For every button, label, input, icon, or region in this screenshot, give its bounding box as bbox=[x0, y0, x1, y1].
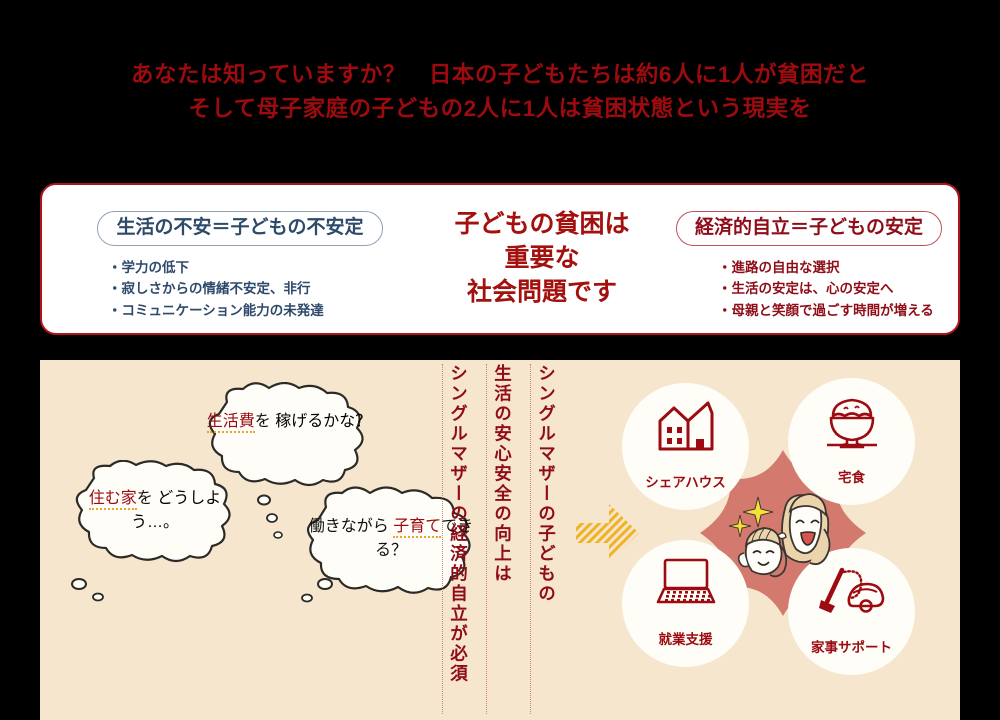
bubble-tail-dots-childcare bbox=[285, 576, 345, 616]
card-column-center: 子どもの貧困は 重要な 社会問題です bbox=[427, 185, 657, 337]
bubble-line-1: 働きながら bbox=[309, 518, 389, 535]
bubble-line-1: 住む家を bbox=[89, 490, 153, 510]
service-circles-cluster: シェアハウス 宅食 bbox=[600, 370, 960, 700]
list-item: ・母親と笑顔で過ごす時間が増える bbox=[718, 300, 954, 322]
card-column-right: 経済的自立＝子どもの安定 ・進路の自由な選択 ・生活の安定は、心の安定へ ・母親… bbox=[664, 185, 954, 337]
bubble-highlight: 住む家 bbox=[89, 490, 137, 510]
center-message-line-2: 重要な bbox=[427, 241, 657, 275]
infographic-canvas: あなたは知っていますか？ 日本の子どもたちは約6人に1人が貧困だと そして母子家… bbox=[0, 0, 1000, 720]
bubble-tail: を bbox=[137, 490, 153, 507]
page-headline: あなたは知っていますか？ 日本の子どもたちは約6人に1人が貧困だと そして母子家… bbox=[0, 58, 1000, 126]
bubble-highlight: 生活費 bbox=[207, 413, 255, 433]
speech-bubble-housing: 住む家を どうしよう…。 bbox=[70, 460, 240, 568]
bow-icon bbox=[778, 533, 786, 539]
list-item: ・学力の低下 bbox=[108, 257, 420, 279]
rice-bowl-icon bbox=[788, 394, 915, 455]
bubble-text-housing: 住む家を どうしよう…。 bbox=[70, 460, 240, 532]
list-item: ・コミュニケーション能力の未発達 bbox=[108, 300, 420, 322]
service-label: 就業支援 bbox=[622, 628, 749, 648]
problem-statement-card: 生活の不安＝子どもの不安定 ・学力の低下 ・寂しさからの情緒不安定、非行 ・コミ… bbox=[40, 183, 960, 335]
mother-face bbox=[790, 502, 822, 553]
bullet-list-left: ・学力の低下 ・寂しさからの情緒不安定、非行 ・コミュニケーション能力の未発達 bbox=[60, 257, 420, 322]
vertical-text-column-1: シングルマザーの子どもの bbox=[530, 364, 555, 714]
bubble-line-2: 稼げるかな？ bbox=[275, 413, 371, 430]
service-label: 家事サポート bbox=[788, 636, 915, 656]
bubble-tail-dots-housing bbox=[65, 572, 125, 612]
bubble-tail: を bbox=[255, 413, 271, 430]
pill-wrap-right: 経済的自立＝子どもの安定 bbox=[664, 185, 954, 246]
center-message-line-1: 子どもの貧困は bbox=[427, 207, 657, 241]
vertical-text-column-2: 生活の安心安全の向上は bbox=[486, 364, 511, 714]
bubble-text-living-cost: 生活費を 稼げるかな？ bbox=[205, 382, 373, 431]
list-item: ・寂しさからの情緒不安定、非行 bbox=[108, 278, 420, 300]
badge-life-anxiety: 生活の不安＝子どもの不安定 bbox=[97, 211, 382, 246]
card-column-left: 生活の不安＝子どもの不安定 ・学力の低下 ・寂しさからの情緒不安定、非行 ・コミ… bbox=[60, 185, 420, 337]
center-message-line-3: 社会問題です bbox=[427, 275, 657, 309]
bubble-line-2: 子育てできる？ bbox=[375, 518, 473, 559]
happy-mother-child-illustration bbox=[728, 483, 840, 583]
bubble-tail-dots-living-cost bbox=[246, 490, 296, 560]
pill-wrap-left: 生活の不安＝子どもの不安定 bbox=[60, 185, 420, 246]
headline-line-1: あなたは知っていますか？ 日本の子どもたちは約6人に1人が貧困だと bbox=[0, 58, 1000, 92]
list-item: ・生活の安定は、心の安定へ bbox=[718, 278, 954, 300]
house-icon bbox=[622, 399, 749, 458]
center-message: 子どもの貧困は 重要な 社会問題です bbox=[427, 185, 657, 309]
bubble-text-childcare: 働きながら 子育てできる？ bbox=[302, 486, 480, 560]
bubble-line-1: 生活費を bbox=[207, 413, 271, 433]
badge-economic-independence: 経済的自立＝子どもの安定 bbox=[676, 211, 942, 246]
headline-line-2: そして母子家庭の子どもの2人に1人は貧困状態という現実を bbox=[0, 92, 1000, 126]
list-item: ・進路の自由な選択 bbox=[718, 257, 954, 279]
bullet-list-right: ・進路の自由な選択 ・生活の安定は、心の安定へ ・母親と笑顔で過ごす時間が増える bbox=[664, 257, 954, 322]
bubble-highlight: 子育て bbox=[393, 518, 441, 538]
